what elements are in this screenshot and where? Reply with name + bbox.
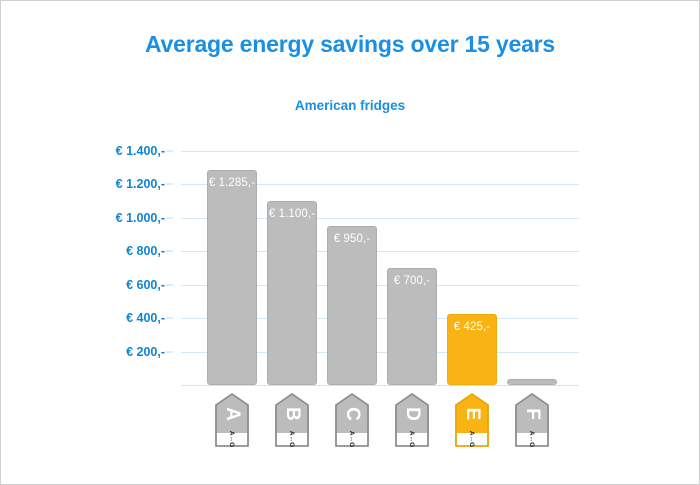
y-axis-tick-label: € 600,- (126, 278, 165, 292)
y-axis-tick-label: € 1.000,- (116, 211, 165, 225)
y-axis-tick-mark (166, 351, 173, 352)
bar-a[interactable]: € 1.285,- (207, 170, 257, 385)
y-axis-tick-mark (166, 284, 173, 285)
x-axis-baseline (181, 385, 579, 386)
energy-label-tag-icon: CA↔G (335, 393, 369, 447)
energy-label-tag-icon: AA↔G (215, 393, 249, 447)
bar-d[interactable]: € 700,- (387, 268, 437, 385)
energy-label-range: A↔G (526, 422, 538, 456)
y-axis-tick-label: € 800,- (126, 244, 165, 258)
energy-label-range: A↔G (286, 422, 298, 456)
energy-label-a[interactable]: AA↔G (215, 393, 249, 447)
bar-series: € 1.285,-€ 1.100,-€ 950,-€ 700,-€ 425,- (181, 151, 579, 385)
y-axis-tick-label: € 400,- (126, 311, 165, 325)
energy-label-tag-icon: EA↔G (455, 393, 489, 447)
energy-label-d[interactable]: DA↔G (395, 393, 429, 447)
bar-value-label: € 425,- (448, 321, 496, 333)
y-axis-tick-label: € 1.400,- (116, 144, 165, 158)
energy-label-c[interactable]: CA↔G (335, 393, 369, 447)
y-axis: € 1.400,-€ 1.200,-€ 1.000,-€ 800,-€ 600,… (1, 151, 173, 385)
bar-b[interactable]: € 1.100,- (267, 201, 317, 385)
y-axis-tick-mark (166, 251, 173, 252)
y-axis-tick-mark (166, 217, 173, 218)
energy-label-range: A↔G (226, 422, 238, 456)
y-axis-tick-label: € 200,- (126, 345, 165, 359)
energy-label-tag-icon: BA↔G (275, 393, 309, 447)
bar-e[interactable]: € 425,- (447, 314, 497, 385)
y-axis-tick-mark (166, 184, 173, 185)
energy-label-tag-icon: DA↔G (395, 393, 429, 447)
energy-label-tag-icon: FA↔G (515, 393, 549, 447)
energy-label-range: A↔G (346, 422, 358, 456)
bar-value-label: € 1.100,- (268, 208, 316, 220)
bar-value-label: € 950,- (328, 233, 376, 245)
y-axis-tick-label: € 1.200,- (116, 177, 165, 191)
bar-value-label: € 1.285,- (208, 177, 256, 189)
y-axis-tick-mark (166, 151, 173, 152)
y-axis-tick-mark (166, 318, 173, 319)
bar-c[interactable]: € 950,- (327, 226, 377, 385)
bar-value-label: € 700,- (388, 275, 436, 287)
chart-title: Average energy savings over 15 years (1, 31, 699, 58)
chart-canvas: Average energy savings over 15 years Ame… (0, 0, 700, 485)
bar-f[interactable] (507, 379, 557, 385)
chart-subtitle: American fridges (1, 98, 699, 113)
energy-label-f[interactable]: FA↔G (515, 393, 549, 447)
energy-label-range: A↔G (406, 422, 418, 456)
energy-label-e[interactable]: EA↔G (455, 393, 489, 447)
x-axis-energy-labels: AA↔GBA↔GCA↔GDA↔GEA↔GFA↔G (181, 393, 579, 453)
energy-label-b[interactable]: BA↔G (275, 393, 309, 447)
energy-label-range: A↔G (466, 422, 478, 456)
